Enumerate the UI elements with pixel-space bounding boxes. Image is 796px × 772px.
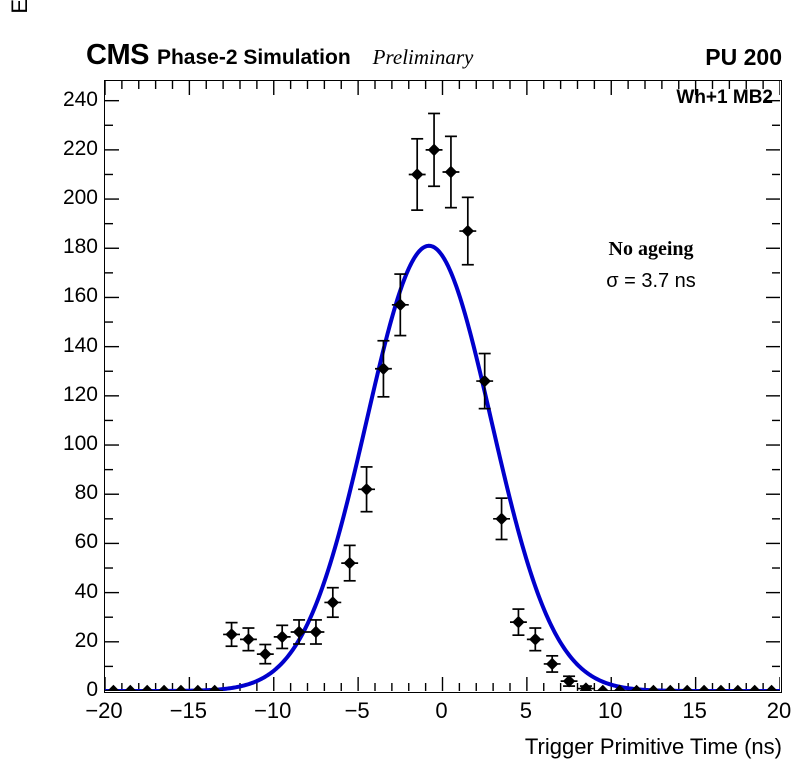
data-point: [561, 675, 578, 687]
data-point: [443, 136, 460, 207]
marker-diamond: [327, 596, 339, 608]
cms-header: CMS Phase-2 Simulation Preliminary PU 20…: [86, 40, 782, 70]
sigma-label: σ = 3.7 ns: [541, 264, 761, 298]
marker-diamond: [681, 685, 693, 691]
y-tick-label: 100: [28, 433, 98, 454]
marker-diamond: [411, 168, 423, 180]
x-tick-label: −5: [322, 700, 392, 722]
data-point: [375, 341, 392, 397]
marker-diamond: [445, 166, 457, 178]
plot-canvas: CMS Phase-2 Simulation Preliminary PU 20…: [0, 0, 796, 772]
data-point: [544, 656, 561, 672]
marker-diamond: [428, 144, 440, 156]
region-label: Wh+1 MB2: [676, 87, 773, 109]
gaussian-fit-curve: [105, 246, 780, 691]
y-tick-label: 240: [28, 89, 98, 110]
marker-diamond: [462, 225, 474, 237]
marker-diamond: [259, 648, 271, 660]
x-tick-label: 10: [575, 700, 645, 722]
x-axis-tick-labels: −20−15−10−505101520: [104, 698, 782, 728]
cms-preliminary-tag: Preliminary: [373, 45, 474, 70]
y-axis-tick-labels: 020406080100120140160180200220240: [26, 80, 98, 693]
y-tick-label: 80: [28, 482, 98, 503]
data-point: [291, 620, 308, 644]
fit-annotation-box: No ageing σ = 3.7 ns: [541, 234, 761, 298]
marker-diamond: [546, 658, 558, 670]
cms-logo: CMS: [86, 41, 149, 70]
x-axis-title: Trigger Primitive Time (ns): [104, 735, 786, 759]
marker-diamond: [765, 685, 777, 691]
x-tick-label: −15: [153, 700, 223, 722]
marker-diamond: [715, 685, 727, 691]
y-tick-label: 120: [28, 384, 98, 405]
x-tick-label: −10: [238, 700, 308, 722]
data-point: [510, 609, 527, 635]
y-tick-label: 180: [28, 236, 98, 257]
data-point: [223, 623, 240, 647]
x-tick-label: 0: [407, 700, 477, 722]
marker-diamond: [597, 685, 609, 691]
data-point: [324, 588, 341, 618]
marker-diamond: [732, 685, 744, 691]
y-tick-label: 200: [28, 187, 98, 208]
data-point: [240, 628, 257, 651]
marker-diamond: [360, 483, 372, 495]
marker-diamond: [107, 685, 119, 691]
x-tick-label: 20: [744, 700, 796, 722]
marker-diamond: [158, 685, 170, 691]
marker-diamond: [664, 685, 676, 691]
marker-diamond: [748, 685, 760, 691]
data-point: [426, 113, 443, 186]
marker-diamond: [175, 685, 187, 691]
y-tick-label: 160: [28, 285, 98, 306]
y-tick-label: 40: [28, 581, 98, 602]
y-tick-label: 20: [28, 630, 98, 651]
plot-area: [105, 81, 780, 691]
data-point: [459, 197, 476, 264]
data-point: [578, 682, 595, 691]
marker-diamond: [242, 633, 254, 645]
data-point: [274, 625, 291, 648]
y-tick-label: 140: [28, 335, 98, 356]
data-point: [308, 620, 325, 644]
marker-diamond: [512, 616, 524, 628]
x-tick-label: 5: [491, 700, 561, 722]
cms-subtitle: Phase-2 Simulation: [157, 45, 351, 70]
x-tick-label: −20: [69, 700, 139, 722]
data-point: [358, 467, 375, 512]
data-point: [257, 645, 274, 664]
x-tick-label: 15: [660, 700, 730, 722]
plot-frame: Wh+1 MB2 No ageing σ = 3.7 ns: [104, 80, 782, 693]
marker-diamond: [124, 685, 136, 691]
marker-diamond: [647, 685, 659, 691]
data-point: [409, 139, 426, 210]
data-point: [527, 628, 544, 651]
marker-diamond: [310, 626, 322, 638]
marker-diamond: [141, 685, 153, 691]
ageing-label: No ageing: [541, 234, 761, 264]
marker-diamond: [698, 685, 710, 691]
marker-diamond: [276, 631, 288, 643]
y-tick-label: 0: [28, 679, 98, 700]
y-tick-label: 220: [28, 138, 98, 159]
data-points-group: [105, 113, 780, 691]
marker-diamond: [495, 513, 507, 525]
data-point: [392, 274, 409, 335]
marker-diamond: [529, 633, 541, 645]
data-point: [493, 498, 510, 539]
marker-diamond: [192, 685, 204, 691]
pileup-label: PU 200: [705, 44, 782, 70]
y-tick-label: 60: [28, 531, 98, 552]
data-point: [341, 545, 358, 580]
marker-diamond: [225, 628, 237, 640]
marker-diamond: [343, 557, 355, 569]
